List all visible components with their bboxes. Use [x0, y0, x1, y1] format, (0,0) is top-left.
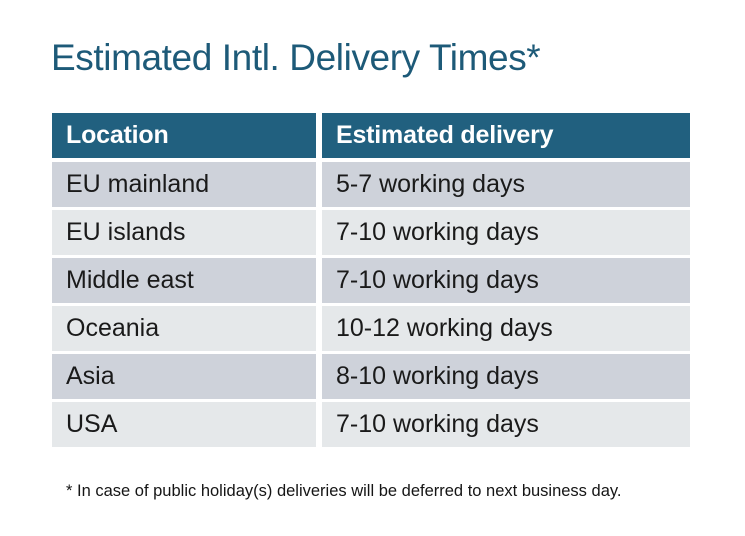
table-header-row: Location Estimated delivery	[52, 113, 690, 158]
cell-estimated-delivery: 8-10 working days	[322, 354, 690, 399]
delivery-times-page: Estimated Intl. Delivery Times* Location…	[0, 0, 745, 536]
cell-estimated-delivery: 7-10 working days	[322, 258, 690, 303]
table-row: Asia 8-10 working days	[52, 354, 690, 399]
table-row: Oceania 10-12 working days	[52, 306, 690, 351]
cell-location: Middle east	[52, 258, 316, 303]
cell-location: Asia	[52, 354, 316, 399]
cell-estimated-delivery: 10-12 working days	[322, 306, 690, 351]
cell-location: EU islands	[52, 210, 316, 255]
page-title: Estimated Intl. Delivery Times*	[51, 36, 540, 80]
footnote-text: * In case of public holiday(s) deliverie…	[66, 481, 621, 501]
cell-estimated-delivery: 5-7 working days	[322, 162, 690, 207]
table-row: EU mainland 5-7 working days	[52, 162, 690, 207]
table-row: EU islands 7-10 working days	[52, 210, 690, 255]
table-row: Middle east 7-10 working days	[52, 258, 690, 303]
cell-estimated-delivery: 7-10 working days	[322, 210, 690, 255]
delivery-times-table: Location Estimated delivery EU mainland …	[52, 113, 690, 450]
cell-estimated-delivery: 7-10 working days	[322, 402, 690, 447]
cell-location: Oceania	[52, 306, 316, 351]
column-header-estimated-delivery: Estimated delivery	[322, 113, 690, 158]
column-header-location: Location	[52, 113, 316, 158]
cell-location: USA	[52, 402, 316, 447]
table-row: USA 7-10 working days	[52, 402, 690, 447]
cell-location: EU mainland	[52, 162, 316, 207]
